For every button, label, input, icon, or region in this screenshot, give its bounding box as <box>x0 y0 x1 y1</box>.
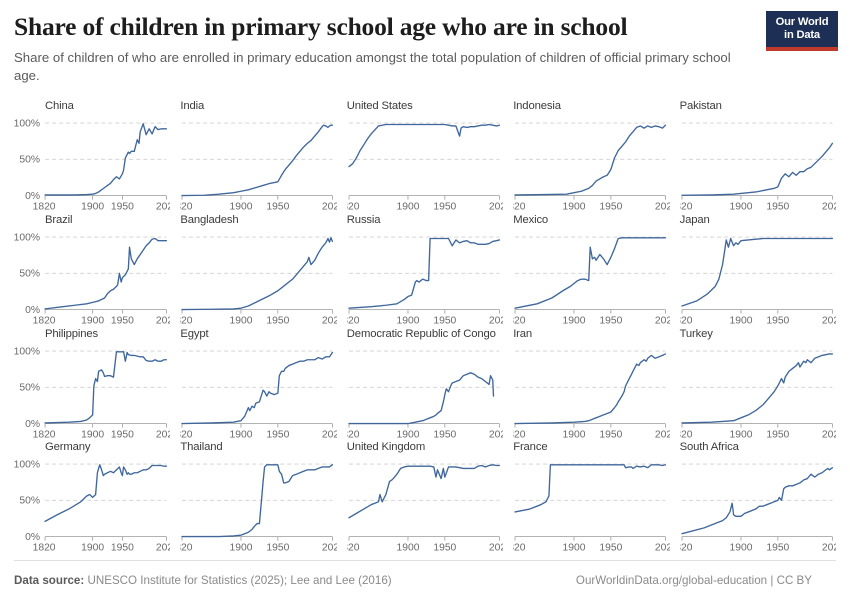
svg-text:1900: 1900 <box>729 429 752 440</box>
panel-title: Egypt <box>180 328 208 340</box>
svg-text:1820: 1820 <box>33 429 56 440</box>
svg-text:100%: 100% <box>14 232 40 243</box>
panel-plot[interactable]: 1820190019502024 <box>347 345 503 442</box>
svg-text:1950: 1950 <box>267 543 290 554</box>
panel-plot[interactable]: 1820190019502024 <box>180 117 336 214</box>
panel-bangladesh[interactable]: Bangladesh1820190019502024 <box>180 214 336 328</box>
panel-title: India <box>180 100 204 112</box>
panel-title: Thailand <box>180 441 222 453</box>
svg-text:1950: 1950 <box>111 315 134 326</box>
svg-text:1950: 1950 <box>111 543 134 554</box>
panel-title: Iran <box>513 328 532 340</box>
panel-plot[interactable]: 1820190019502024 <box>347 117 503 214</box>
footer-divider <box>14 560 836 561</box>
svg-text:1900: 1900 <box>563 202 586 213</box>
panel-thailand[interactable]: Thailand1820190019502024 <box>180 441 336 555</box>
svg-text:1950: 1950 <box>766 429 789 440</box>
panel-indonesia[interactable]: Indonesia1820190019502024 <box>513 100 669 214</box>
svg-text:1820: 1820 <box>180 202 193 213</box>
svg-text:1820: 1820 <box>680 429 693 440</box>
svg-text:1820: 1820 <box>180 429 193 440</box>
svg-text:100%: 100% <box>14 346 40 357</box>
panel-turkey[interactable]: Turkey1820190019502024 <box>680 328 836 442</box>
svg-text:2024: 2024 <box>156 202 170 213</box>
svg-text:1950: 1950 <box>433 429 456 440</box>
page-title: Share of children in primary school age … <box>14 12 754 42</box>
svg-text:1820: 1820 <box>33 202 56 213</box>
svg-text:1900: 1900 <box>230 543 253 554</box>
svg-text:1900: 1900 <box>230 315 253 326</box>
svg-text:1900: 1900 <box>563 543 586 554</box>
svg-text:1820: 1820 <box>347 429 360 440</box>
svg-text:1950: 1950 <box>766 315 789 326</box>
svg-text:1950: 1950 <box>600 429 623 440</box>
panel-title: Turkey <box>680 328 713 340</box>
svg-text:1820: 1820 <box>347 315 360 326</box>
panel-russia[interactable]: Russia1820190019502024 <box>347 214 503 328</box>
svg-text:1900: 1900 <box>81 315 104 326</box>
svg-text:1950: 1950 <box>766 543 789 554</box>
panel-plot[interactable]: 0%50%100%1820190019502024 <box>14 458 170 555</box>
svg-text:1950: 1950 <box>766 202 789 213</box>
svg-text:1900: 1900 <box>81 543 104 554</box>
panel-title: United Kingdom <box>347 441 425 453</box>
panel-united-kingdom[interactable]: United Kingdom1820190019502024 <box>347 441 503 555</box>
svg-text:2024: 2024 <box>489 429 503 440</box>
panel-germany[interactable]: Germany0%50%100%1820190019502024 <box>14 441 170 555</box>
footer: Data source: UNESCO Institute for Statis… <box>14 568 836 592</box>
svg-text:2024: 2024 <box>322 202 336 213</box>
panel-title: Pakistan <box>680 100 722 112</box>
svg-text:1820: 1820 <box>347 543 360 554</box>
panel-philippines[interactable]: Philippines0%50%100%1820190019502024 <box>14 328 170 442</box>
panel-title: Indonesia <box>513 100 561 112</box>
svg-text:1950: 1950 <box>267 202 290 213</box>
svg-text:1900: 1900 <box>81 202 104 213</box>
owid-logo-line1: Our World <box>776 16 829 29</box>
panel-india[interactable]: India1820190019502024 <box>180 100 336 214</box>
data-source-label: Data source: <box>14 574 84 587</box>
svg-text:0%: 0% <box>25 191 40 202</box>
panel-japan[interactable]: Japan1820190019502024 <box>680 214 836 328</box>
svg-text:50%: 50% <box>19 382 40 393</box>
panel-plot[interactable]: 1820190019502024 <box>680 117 836 214</box>
svg-text:1900: 1900 <box>81 429 104 440</box>
panel-plot[interactable]: 0%50%100%1820190019502024 <box>14 231 170 328</box>
panel-egypt[interactable]: Egypt1820190019502024 <box>180 328 336 442</box>
panel-plot[interactable]: 0%50%100%1820190019502024 <box>14 117 170 214</box>
svg-text:1900: 1900 <box>563 429 586 440</box>
panel-plot[interactable]: 1820190019502024 <box>180 458 336 555</box>
svg-text:1820: 1820 <box>513 202 526 213</box>
svg-text:2024: 2024 <box>821 202 835 213</box>
svg-text:1820: 1820 <box>347 202 360 213</box>
header: Share of children in primary school age … <box>14 12 754 84</box>
svg-text:2024: 2024 <box>655 429 669 440</box>
svg-text:1900: 1900 <box>396 315 419 326</box>
panel-title: China <box>45 100 74 112</box>
panel-title: Democratic Republic of Congo <box>347 328 496 340</box>
panel-plot[interactable]: 1820190019502024 <box>180 231 336 328</box>
attribution[interactable]: OurWorldinData.org/global-education | CC… <box>576 574 836 587</box>
svg-text:2024: 2024 <box>322 429 336 440</box>
panel-plot[interactable]: 1820190019502024 <box>680 345 836 442</box>
panel-united-states[interactable]: United States1820190019502024 <box>347 100 503 214</box>
data-source: Data source: UNESCO Institute for Statis… <box>14 574 392 587</box>
small-multiples-grid: China0%50%100%1820190019502024India18201… <box>14 100 836 555</box>
panel-title: United States <box>347 100 413 112</box>
panel-china[interactable]: China0%50%100%1820190019502024 <box>14 100 170 214</box>
svg-text:1820: 1820 <box>33 315 56 326</box>
svg-text:2024: 2024 <box>156 429 170 440</box>
chart-page: Share of children in primary school age … <box>0 0 850 600</box>
svg-text:1950: 1950 <box>600 315 623 326</box>
panel-plot[interactable]: 1820190019502024 <box>347 231 503 328</box>
svg-text:1900: 1900 <box>396 429 419 440</box>
svg-text:1900: 1900 <box>729 315 752 326</box>
svg-text:1820: 1820 <box>680 315 693 326</box>
svg-text:1950: 1950 <box>600 202 623 213</box>
panel-france[interactable]: France1820190019502024 <box>513 441 669 555</box>
svg-text:1950: 1950 <box>111 202 134 213</box>
svg-text:1950: 1950 <box>433 202 456 213</box>
svg-text:2024: 2024 <box>489 315 503 326</box>
svg-text:1820: 1820 <box>680 543 693 554</box>
panel-title: Germany <box>45 441 90 453</box>
panel-plot[interactable]: 1820190019502024 <box>513 345 669 442</box>
svg-text:1820: 1820 <box>180 543 193 554</box>
svg-text:0%: 0% <box>25 532 40 543</box>
svg-text:2024: 2024 <box>655 543 669 554</box>
panel-title: Bangladesh <box>180 214 238 226</box>
owid-logo-line2: in Data <box>784 29 820 42</box>
svg-text:1820: 1820 <box>513 429 526 440</box>
svg-text:1950: 1950 <box>433 543 456 554</box>
page-subtitle: Share of children of who are enrolled in… <box>14 49 738 84</box>
svg-text:1900: 1900 <box>396 202 419 213</box>
svg-text:1950: 1950 <box>267 315 290 326</box>
svg-text:2024: 2024 <box>655 315 669 326</box>
panel-title: Philippines <box>45 328 98 340</box>
panel-plot[interactable]: 0%50%100%1820190019502024 <box>14 345 170 442</box>
svg-text:100%: 100% <box>14 118 40 129</box>
svg-text:1820: 1820 <box>680 202 693 213</box>
svg-text:1820: 1820 <box>513 543 526 554</box>
panel-title: Japan <box>680 214 710 226</box>
svg-text:1950: 1950 <box>111 429 134 440</box>
svg-text:2024: 2024 <box>821 543 835 554</box>
svg-text:0%: 0% <box>25 419 40 430</box>
panel-title: Mexico <box>513 214 548 226</box>
panel-plot[interactable]: 1820190019502024 <box>180 345 336 442</box>
svg-text:1950: 1950 <box>267 429 290 440</box>
svg-text:2024: 2024 <box>821 429 835 440</box>
svg-text:1950: 1950 <box>433 315 456 326</box>
data-source-text: UNESCO Institute for Statistics (2025); … <box>87 574 391 587</box>
svg-text:2024: 2024 <box>489 543 503 554</box>
panel-democratic-republic-of-congo[interactable]: Democratic Republic of Congo182019001950… <box>347 328 503 442</box>
svg-text:2024: 2024 <box>156 543 170 554</box>
svg-text:1900: 1900 <box>729 543 752 554</box>
svg-text:2024: 2024 <box>156 315 170 326</box>
svg-text:2024: 2024 <box>322 543 336 554</box>
panel-pakistan[interactable]: Pakistan1820190019502024 <box>680 100 836 214</box>
panel-title: France <box>513 441 547 453</box>
svg-text:1820: 1820 <box>33 543 56 554</box>
panel-brazil[interactable]: Brazil0%50%100%1820190019502024 <box>14 214 170 328</box>
panel-plot[interactable]: 1820190019502024 <box>680 458 836 555</box>
svg-text:100%: 100% <box>14 460 40 471</box>
svg-text:1820: 1820 <box>180 315 193 326</box>
panel-iran[interactable]: Iran1820190019502024 <box>513 328 669 442</box>
svg-text:1900: 1900 <box>563 315 586 326</box>
panel-plot[interactable]: 1820190019502024 <box>680 231 836 328</box>
panel-title: Brazil <box>45 214 72 226</box>
panel-plot[interactable]: 1820190019502024 <box>347 458 503 555</box>
svg-text:2024: 2024 <box>655 202 669 213</box>
panel-plot[interactable]: 1820190019502024 <box>513 117 669 214</box>
panel-plot[interactable]: 1820190019502024 <box>513 458 669 555</box>
svg-text:2024: 2024 <box>489 202 503 213</box>
svg-text:1820: 1820 <box>513 315 526 326</box>
svg-text:1900: 1900 <box>729 202 752 213</box>
panel-title: Russia <box>347 214 381 226</box>
svg-text:50%: 50% <box>19 268 40 279</box>
svg-text:1900: 1900 <box>230 202 253 213</box>
svg-text:50%: 50% <box>19 496 40 507</box>
panel-title: South Africa <box>680 441 739 453</box>
owid-logo[interactable]: Our World in Data <box>766 11 838 51</box>
svg-text:1950: 1950 <box>600 543 623 554</box>
svg-text:0%: 0% <box>25 305 40 316</box>
svg-text:1900: 1900 <box>230 429 253 440</box>
panel-plot[interactable]: 1820190019502024 <box>513 231 669 328</box>
panel-mexico[interactable]: Mexico1820190019502024 <box>513 214 669 328</box>
svg-text:50%: 50% <box>19 155 40 166</box>
svg-text:2024: 2024 <box>821 315 835 326</box>
svg-text:2024: 2024 <box>322 315 336 326</box>
svg-text:1900: 1900 <box>396 543 419 554</box>
panel-south-africa[interactable]: South Africa1820190019502024 <box>680 441 836 555</box>
